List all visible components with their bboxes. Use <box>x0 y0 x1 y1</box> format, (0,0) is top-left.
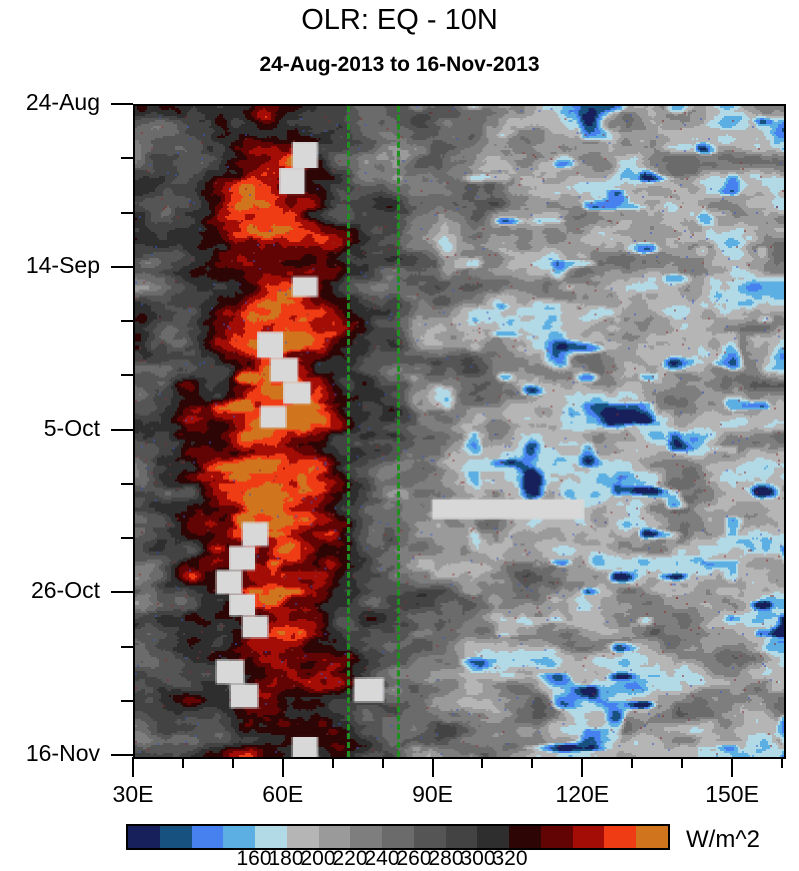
y-tick-major <box>111 266 133 268</box>
y-tick-minor <box>121 374 133 376</box>
colorbar-swatch <box>160 826 192 848</box>
x-tick-major <box>132 757 134 777</box>
x-axis-label: 90E <box>412 781 453 808</box>
colorbar-swatch <box>255 826 287 848</box>
y-tick-major <box>111 754 133 756</box>
colorbar-swatch <box>573 826 605 848</box>
x-tick-major <box>731 757 733 777</box>
colorbar-swatch <box>604 826 636 848</box>
y-axis-label: 24-Aug <box>26 89 100 116</box>
x-tick-minor <box>382 757 384 768</box>
colorbar-swatch <box>541 826 573 848</box>
colorbar-tick-label: 280 <box>428 847 463 871</box>
colorbar-swatch <box>477 826 509 848</box>
y-tick-major <box>111 103 133 105</box>
plot-area <box>133 104 786 759</box>
colorbar-units-label: W/m^2 <box>686 826 760 854</box>
y-tick-major <box>111 591 133 593</box>
page-title: OLR: EQ - 10N <box>0 4 799 37</box>
x-tick-minor <box>681 757 683 768</box>
y-tick-major <box>111 429 133 431</box>
x-tick-minor <box>531 757 533 768</box>
x-tick-minor <box>232 757 234 768</box>
y-tick-minor <box>121 646 133 648</box>
y-axis-label: 26-Oct <box>31 577 100 604</box>
annotation-vline <box>397 106 400 757</box>
x-tick-minor <box>332 757 334 768</box>
colorbar-swatch <box>446 826 478 848</box>
x-axis-label: 120E <box>555 781 609 808</box>
colorbar-swatch <box>509 826 541 848</box>
y-tick-minor <box>121 537 133 539</box>
x-tick-minor <box>182 757 184 768</box>
heatmap-field <box>135 106 784 757</box>
y-axis-label: 16-Nov <box>26 740 100 767</box>
colorbar-swatch <box>287 826 319 848</box>
colorbar-tick-label: 260 <box>396 847 431 871</box>
colorbar-tick-label: 300 <box>460 847 495 871</box>
y-axis-label: 14-Sep <box>26 252 100 279</box>
x-tick-major <box>432 757 434 777</box>
colorbar-swatch <box>223 826 255 848</box>
colorbar-swatch <box>636 826 668 848</box>
x-tick-minor <box>781 757 783 768</box>
colorbar-tick-label: 200 <box>300 847 335 871</box>
colorbar-tick-label: 320 <box>492 847 527 871</box>
colorbar-tick-label: 220 <box>332 847 367 871</box>
colorbar-tick-label: 160 <box>236 847 271 871</box>
page-subtitle: 24-Aug-2013 to 16-Nov-2013 <box>0 53 799 77</box>
x-tick-major <box>282 757 284 777</box>
y-tick-minor <box>121 700 133 702</box>
y-axis-label: 5-Oct <box>44 415 100 442</box>
colorbar-swatch <box>128 826 160 848</box>
olr-hovmoller-figure: OLR: EQ - 10N 24-Aug-2013 to 16-Nov-2013… <box>0 0 799 869</box>
colorbar-swatch <box>350 826 382 848</box>
x-tick-minor <box>481 757 483 768</box>
y-tick-minor <box>121 320 133 322</box>
colorbar-swatch <box>319 826 351 848</box>
y-tick-minor <box>121 483 133 485</box>
colorbar-tick-label: 240 <box>364 847 399 871</box>
x-axis-label: 60E <box>262 781 303 808</box>
y-tick-minor <box>121 157 133 159</box>
y-tick-minor <box>121 212 133 214</box>
colorbar-tick-label: 180 <box>268 847 303 871</box>
x-tick-minor <box>631 757 633 768</box>
x-tick-major <box>581 757 583 777</box>
annotation-vline <box>347 106 350 757</box>
colorbar-swatch <box>382 826 414 848</box>
x-axis-label: 150E <box>705 781 759 808</box>
x-axis-label: 30E <box>113 781 154 808</box>
colorbar-swatch <box>192 826 224 848</box>
colorbar-swatch <box>414 826 446 848</box>
